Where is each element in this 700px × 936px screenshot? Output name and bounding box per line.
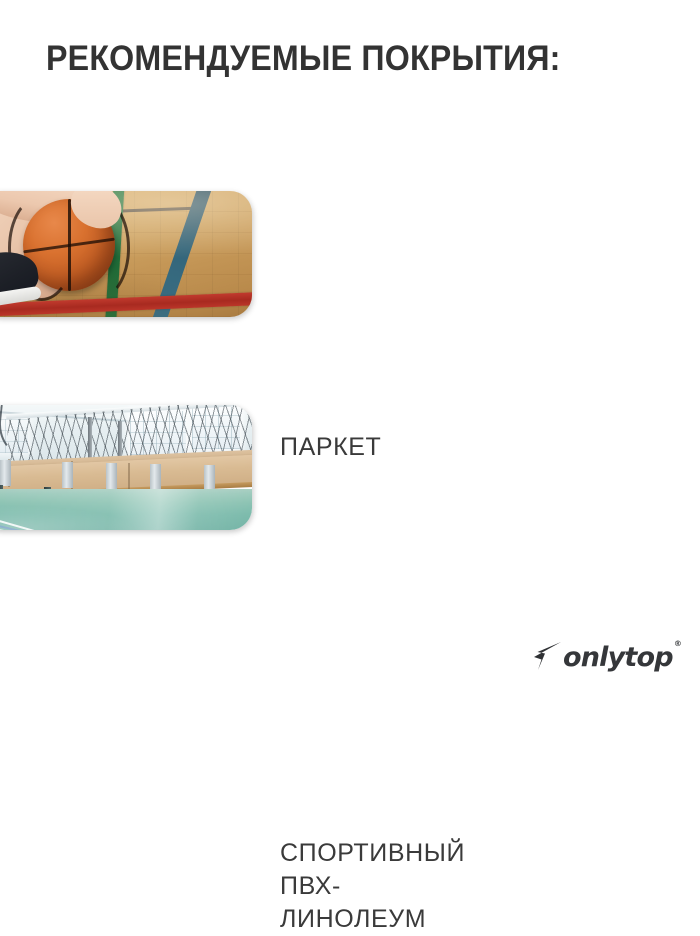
covering-label-parquet: ПАРКЕТ xyxy=(280,431,381,464)
registered-trademark-icon: ® xyxy=(674,639,681,648)
bleacher-bracket xyxy=(150,464,161,490)
bleacher-seam xyxy=(128,463,130,491)
photo-gym-pvc-linoleum xyxy=(0,405,252,530)
slide-canvas: РЕКОМЕНДУЕМЫЕ ПОКРЫТИЯ: xyxy=(0,0,700,700)
pvc-linoleum-floor xyxy=(0,489,252,530)
bleacher-bracket xyxy=(62,462,73,488)
photo-parquet-basketball xyxy=(0,191,252,317)
onlytop-arrow-icon xyxy=(528,641,562,671)
bleacher-bracket xyxy=(204,465,215,491)
logo-word-text: onlytop xyxy=(563,642,673,673)
page-title: РЕКОМЕНДУЕМЫЕ ПОКРЫТИЯ: xyxy=(46,38,616,80)
floor-sheen xyxy=(0,489,252,530)
gym-scene xyxy=(0,405,252,530)
bleacher-bracket xyxy=(0,460,11,486)
covering-label-pvc: СПОРТИВНЫЙ ПВХ-ЛИНОЛЕУМ xyxy=(280,837,465,936)
logo-wordmark: onlytop® xyxy=(563,644,680,671)
brand-logo: onlytop® xyxy=(528,638,680,674)
bleacher-bracket xyxy=(106,463,117,489)
